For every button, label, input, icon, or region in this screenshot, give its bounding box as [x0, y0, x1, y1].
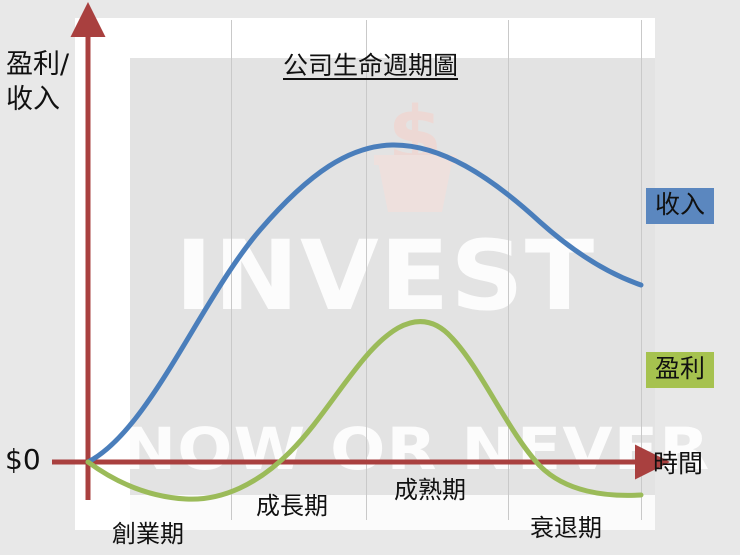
- y-axis-label-line2: 收入: [6, 83, 69, 118]
- phase-label-startup: 創業期: [112, 514, 184, 549]
- chart-title: 公司生命週期圖: [283, 46, 458, 82]
- y-axis-label: 盈利/ 收入: [6, 48, 69, 117]
- y-axis-label-line1: 盈利/: [6, 48, 69, 83]
- phase-label-decline: 衰退期: [530, 508, 602, 543]
- phase-label-maturity: 成熟期: [394, 470, 466, 505]
- series-line-revenue: [88, 145, 641, 462]
- chart-canvas: $ INVEST NOW OR NEVER 盈利/ 收入: [0, 0, 740, 555]
- phase-label-growth: 成長期: [256, 486, 328, 521]
- legend-item-profit: 盈利: [646, 352, 714, 388]
- plot-area: [0, 0, 740, 555]
- series-line-profit: [88, 322, 641, 500]
- x-axis-label: 時間: [653, 444, 703, 480]
- y-axis-zero-label: $0: [5, 443, 41, 476]
- legend-item-revenue: 收入: [646, 188, 714, 224]
